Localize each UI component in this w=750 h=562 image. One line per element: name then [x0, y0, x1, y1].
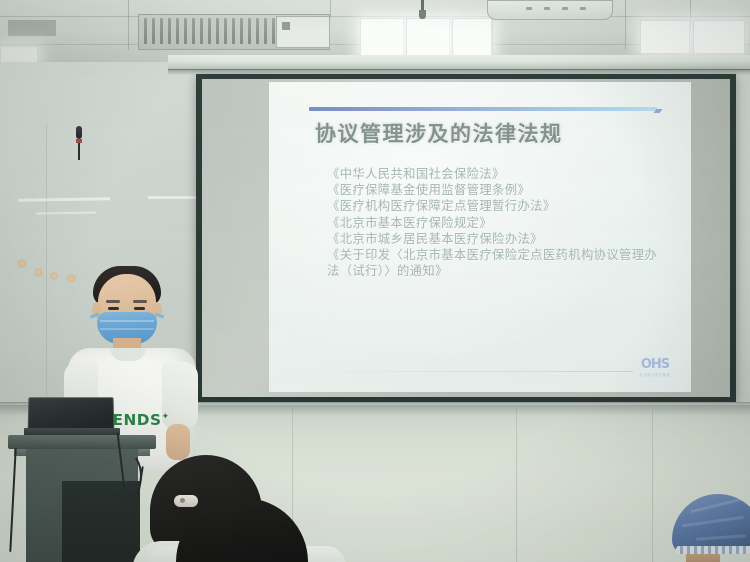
ceiling-panel-seam: [690, 0, 691, 30]
warm-light-spot: [16, 259, 28, 268]
laptop[interactable]: [24, 397, 120, 439]
microphone-icon: [76, 126, 82, 160]
ceiling-access-panel: [276, 16, 330, 48]
screen-surface: 协议管理涉及的法律法规 《中华人民共和国社会保险法》 《医疗保障基金使用监督管理…: [202, 79, 730, 397]
projector-screen-housing: [168, 55, 750, 70]
ceiling-recess: [8, 20, 56, 36]
ceiling-light-panel: [406, 18, 450, 58]
housing-label: [698, 58, 732, 67]
title-divider-tail: [653, 109, 662, 113]
ceiling-light-panel: [360, 18, 404, 58]
audience-member: [176, 498, 308, 562]
presenter-eyebrow: [133, 300, 147, 303]
wall-panel-seam: [652, 406, 653, 562]
presenter-eyebrow: [106, 300, 120, 303]
slide-line: 《北京市基本医疗保险规定》: [327, 215, 663, 231]
wall-light-reflection: [148, 196, 196, 199]
fire-sprinkler-icon: [419, 0, 426, 20]
laptop-screen: [28, 397, 115, 431]
slide-title: 协议管理涉及的法律法规: [315, 118, 655, 148]
logo-subtitle: 北京欧华医疗集团: [633, 372, 677, 378]
slide-line: 《中华人民共和国社会保险法》: [327, 166, 663, 182]
ceiling-panel-seam: [625, 0, 626, 50]
footer-rule: [303, 371, 633, 372]
title-divider-rule: [309, 107, 657, 111]
slide-line: 《关于印发〈北京市基本医疗保险定点医药机构协议管理办法（试行）〉的通知》: [327, 247, 663, 279]
ceiling-panel-seam: [0, 16, 750, 17]
ceiling-panel-seam: [330, 0, 331, 18]
presentation-slide: 协议管理涉及的法律法规 《中华人民共和国社会保险法》 《医疗保障基金使用监督管理…: [269, 82, 691, 392]
slide-logo: OHS 北京欧华医疗集团: [633, 358, 677, 380]
ceiling-speaker-unit: [487, 0, 613, 20]
audience-member: [672, 494, 750, 562]
ceiling-light-panel: [640, 20, 690, 54]
ceiling-light-panel: [452, 18, 492, 56]
slide-body: 《中华人民共和国社会保险法》 《医疗保障基金使用监督管理条例》 《医疗机构医疗保…: [327, 166, 663, 279]
surgical-cap-band: [676, 546, 750, 554]
warm-light-spot: [49, 272, 59, 280]
surgical-cap-icon: [672, 494, 750, 554]
audience-hair: [176, 498, 308, 562]
projection-screen: 协议管理涉及的法律法规 《中华人民共和国社会保险法》 《医疗保障基金使用监督管理…: [196, 74, 736, 402]
ceiling-light-panel: [693, 20, 745, 54]
logo-mark: OHS: [633, 358, 677, 371]
warm-light-spot: [33, 268, 44, 277]
slide-line: 《北京市城乡居民基本医疗保险办法》: [327, 231, 663, 247]
photo-scene: 协议管理涉及的法律法规 《中华人民共和国社会保险法》 《医疗保障基金使用监督管理…: [0, 0, 750, 562]
power-cable-loop: [112, 452, 142, 500]
ceiling-panel-seam: [128, 0, 129, 50]
slide-line: 《医疗保障基金使用监督管理条例》: [327, 182, 663, 198]
presenter-eye: [134, 307, 145, 310]
wall-panel-seam: [516, 406, 517, 562]
lectern-top: [8, 435, 156, 449]
slide-line: 《医疗机构医疗保障定点管理暂行办法》: [327, 198, 663, 214]
tshirt-star-icon: ✦: [162, 412, 170, 422]
presenter-eye: [108, 307, 119, 310]
